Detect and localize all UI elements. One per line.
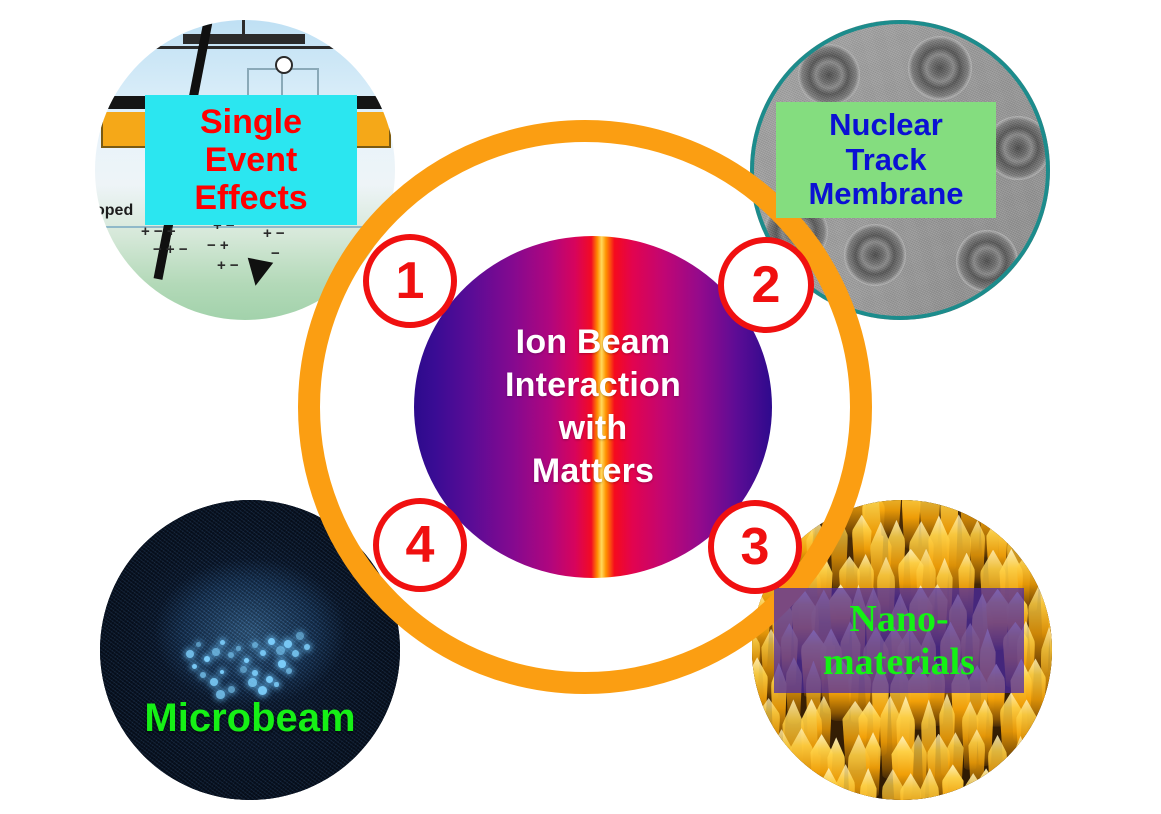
dna-damage-focus <box>210 678 218 686</box>
caption-line: Event <box>151 141 351 179</box>
caption-line: Nano- <box>778 598 1020 641</box>
dna-damage-focus <box>276 646 285 655</box>
dna-damage-focus <box>248 678 257 687</box>
dna-damage-focus <box>244 658 249 663</box>
caption-line: materials <box>778 641 1020 684</box>
dna-damage-focus <box>212 648 220 656</box>
panel-4-caption: Microbeam <box>130 696 370 741</box>
charge-symbol: − + − <box>153 242 188 257</box>
dna-damage-focus <box>252 670 258 676</box>
dna-damage-focus <box>252 642 258 648</box>
dna-damage-focus <box>296 632 304 640</box>
title-line: Ion Beam <box>505 321 681 364</box>
title-line: Matters <box>505 450 681 493</box>
oxide-layer <box>95 46 395 49</box>
substrate-boundary <box>95 226 395 228</box>
badge-2[interactable]: 2 <box>718 237 814 333</box>
circuit-node-icon <box>275 56 293 74</box>
dna-damage-focus <box>278 660 286 668</box>
dna-damage-focus <box>268 638 275 645</box>
dna-damage-focus <box>292 650 299 657</box>
charge-symbol: − + <box>207 238 229 253</box>
caption-line: Single <box>151 103 351 141</box>
badge-4[interactable]: 4 <box>373 498 467 592</box>
caption-line: Track <box>780 143 992 178</box>
diagram-canvas: n+ n+ oped + − − + + − + − + − + − + − −… <box>0 0 1161 814</box>
badge-3[interactable]: 3 <box>708 500 802 594</box>
title-line: with <box>505 407 681 450</box>
caption-line: Nuclear <box>780 108 992 143</box>
caption-line: Effects <box>151 179 351 217</box>
charge-symbol: + − + <box>141 224 176 239</box>
dna-damage-focus <box>286 668 292 674</box>
ion-track-arrow-icon <box>243 258 273 288</box>
charge-symbol: − <box>271 246 280 261</box>
doped-label: oped <box>95 202 133 220</box>
charge-symbol: + − <box>263 226 285 241</box>
dna-damage-focus <box>284 640 292 648</box>
charge-symbol: + − <box>217 258 239 273</box>
caption-line: Membrane <box>780 177 992 212</box>
gate-stem <box>242 20 245 42</box>
panel-2-caption: Nuclear Track Membrane <box>776 102 996 218</box>
panel-3-caption: Nano- materials <box>774 588 1024 693</box>
dna-damage-focus <box>274 682 279 687</box>
dna-damage-focus <box>236 646 241 651</box>
dna-damage-focus <box>258 686 267 695</box>
center-hub-title: Ion Beam Interaction with Matters <box>505 321 681 492</box>
badge-1[interactable]: 1 <box>363 234 457 328</box>
dna-damage-focus <box>196 642 201 647</box>
panel-1-caption: Single Event Effects <box>145 95 357 225</box>
title-line: Interaction <box>505 364 681 407</box>
caption-line: Microbeam <box>130 696 370 741</box>
